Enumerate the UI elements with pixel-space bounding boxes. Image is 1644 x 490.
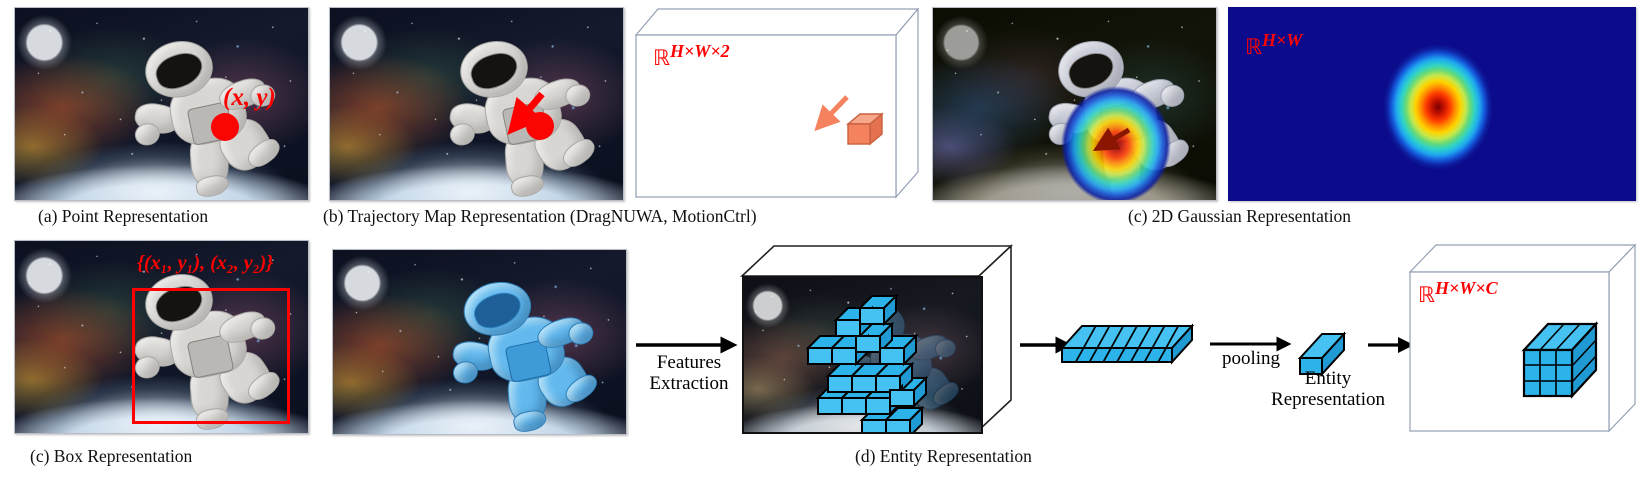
panel-a-image: (x, y) [14,7,309,201]
gaussian-center-arrow-icon [933,8,1216,200]
panel-d-input-image [332,249,627,435]
pooling-label: pooling [1206,348,1296,369]
caption-panel-b: (b) Trajectory Map Representation (DragN… [323,206,757,227]
voxel-cluster-icon [744,278,981,432]
panel-c-box-image: {(x₁, y₁), (x₂, y₂)} [14,240,309,434]
entity-representation-label: Entity Representation [1228,368,1428,411]
caption-panel-a: (a) Point Representation [38,206,208,227]
orange-cube-icon [636,7,919,199]
tensor-box-hwc: ℝH×W×C [1410,242,1636,434]
astronaut-a [118,20,309,201]
tensor-box-hw2: ℝH×W×2 [636,7,919,199]
features-extraction-label: Features Extraction [630,352,748,395]
box-coordinates-label: {(x₁, y₁), (x₂, y₂)} [137,252,273,275]
to-output-arrow-icon [1366,332,1414,358]
bounding-box-annotation [132,288,290,424]
caption-panel-c-box: (c) Box Representation [30,446,192,467]
feature-volume-front-face [742,276,983,434]
trajectory-arrow-icon [330,8,623,200]
entity-representation-line1: Entity [1228,368,1428,389]
gaussian-blob [1383,44,1493,170]
real-set-symbol-c: ℝ [1245,35,1262,59]
panel-c-gaussian-image [932,7,1217,201]
output-voxel-cube-icon [1410,242,1636,434]
panel-b-image [329,7,624,201]
caption-panel-c-gaussian: (c) 2D Gaussian Representation [1128,206,1351,227]
panel-c-heatmap: ℝH×W [1228,7,1636,201]
tensor-label-hw: ℝH×W [1245,30,1302,60]
feature-volume-box [742,244,1012,434]
tensor-exponent-c: H×W [1262,30,1302,50]
caption-panel-d: (d) Entity Representation [855,446,1032,467]
features-extraction-line1: Features [630,352,748,373]
trajectory-endpoint-dot [526,112,554,140]
features-extraction-line2: Extraction [630,373,748,394]
point-coordinate-label: (x, y) [223,84,276,112]
point-marker-dot [211,113,239,141]
figure-root: (x, y) (a) Point Representation [0,0,1644,490]
entity-representation-line2: Representation [1228,389,1428,410]
feature-strip-icon [1054,312,1204,372]
